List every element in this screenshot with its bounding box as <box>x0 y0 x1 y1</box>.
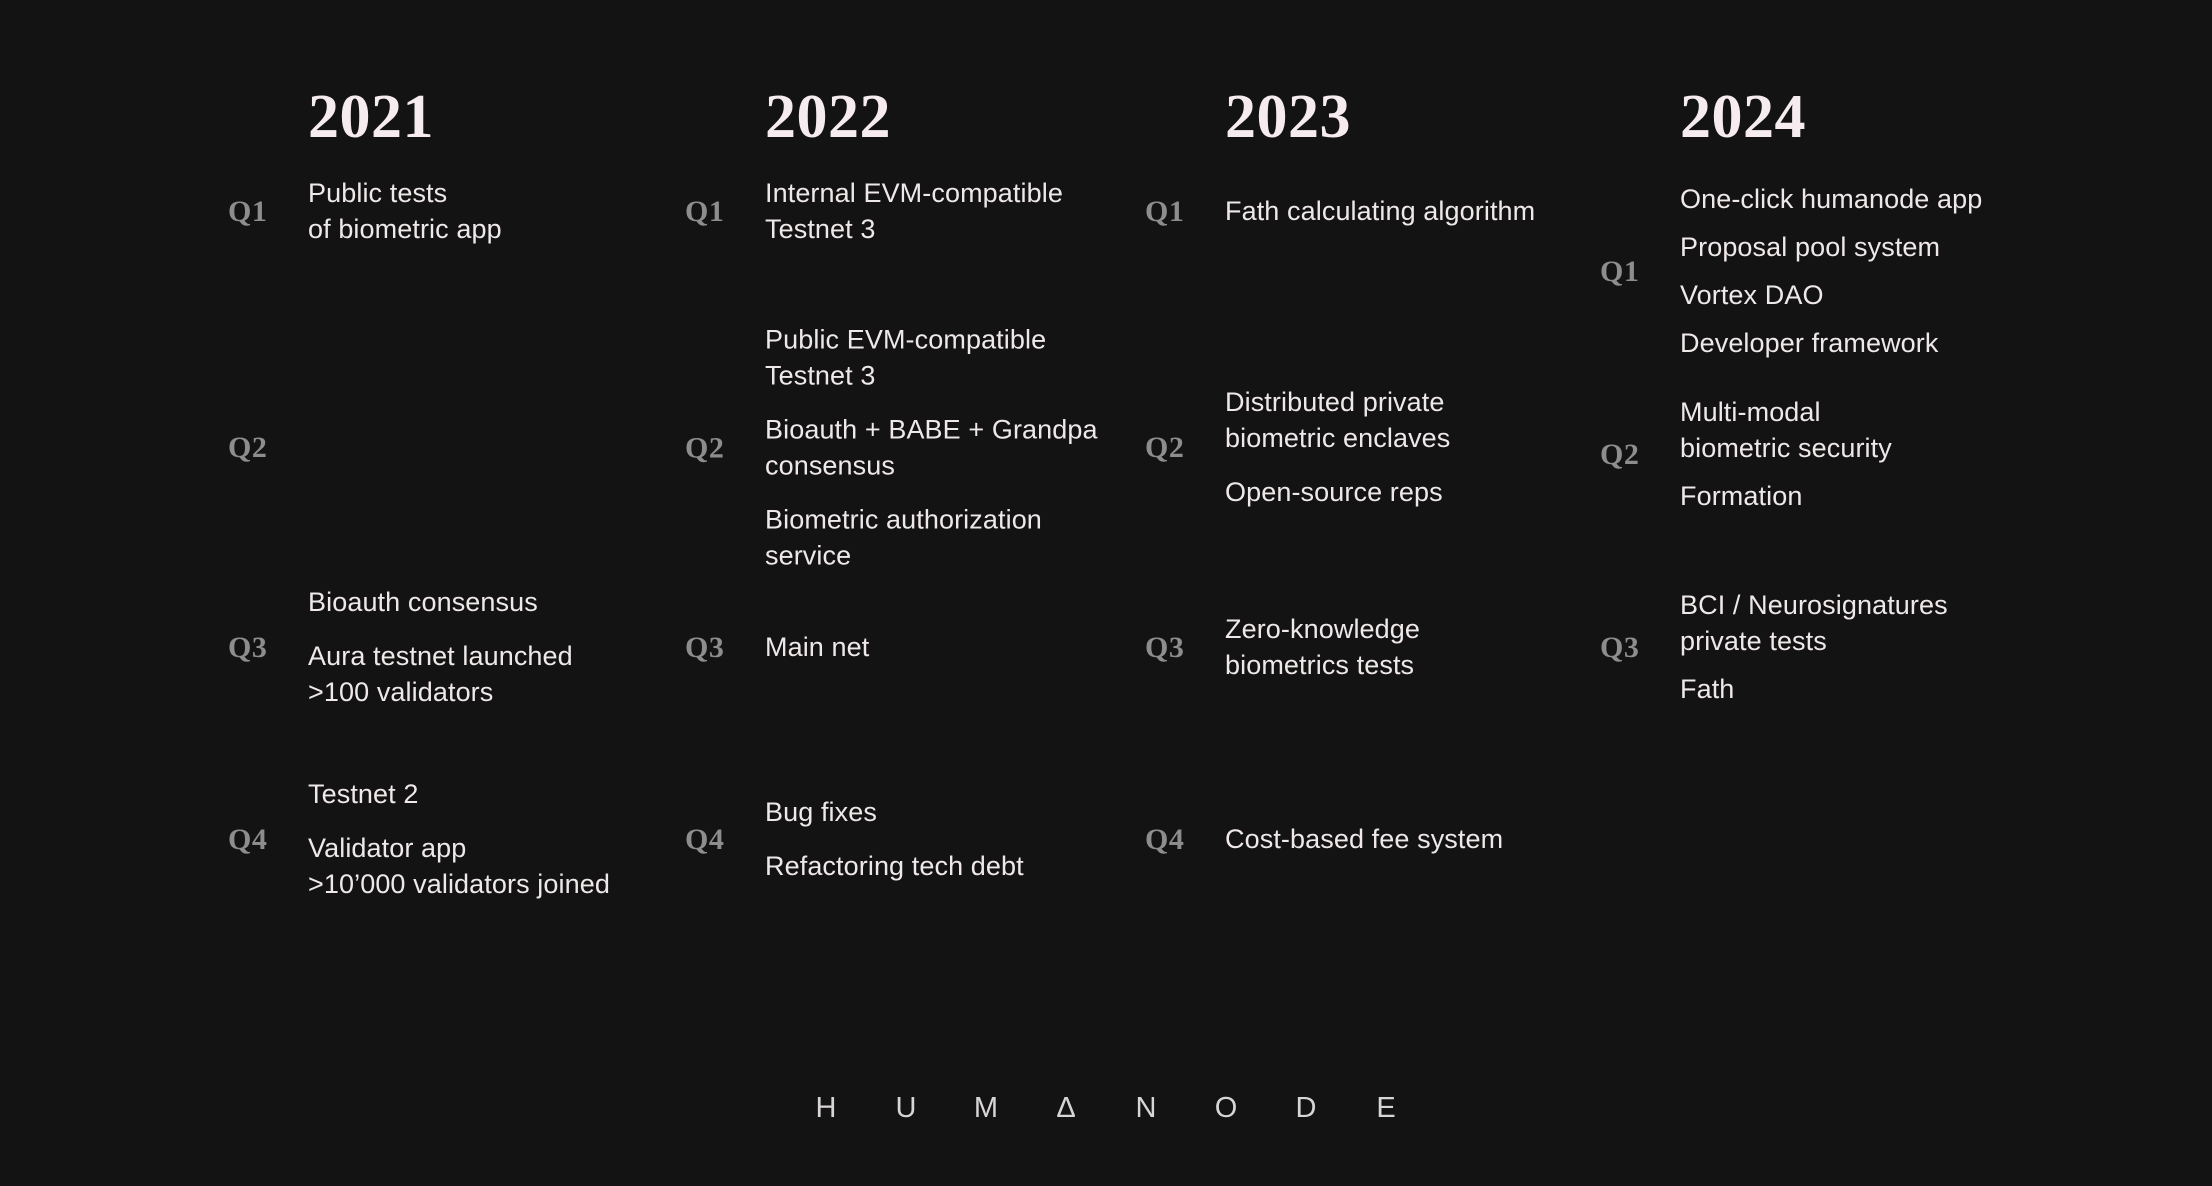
milestone-item: Bug fixes <box>765 795 1135 831</box>
year-column-2022: 2022Q1Internal EVM-compatible Testnet 3Q… <box>685 0 1135 1186</box>
milestone-item: Fath calculating algorithm <box>1225 194 1595 230</box>
milestone-list: Distributed private biometric enclavesOp… <box>1225 385 1595 511</box>
quarter-row-2024-Q3: Q3BCI / Neurosignatures private testsFat… <box>1600 588 2050 708</box>
milestone-item: Public tests of biometric app <box>308 176 678 248</box>
quarter-row-2021-Q2: Q2 <box>228 433 678 463</box>
milestone-item: Open-source reps <box>1225 475 1595 511</box>
milestone-item: Public EVM-compatible Testnet 3 <box>765 322 1135 394</box>
quarter-label: Q2 <box>1600 440 1680 470</box>
quarter-label: Q2 <box>1145 433 1225 463</box>
quarter-row-2023-Q1: Q1Fath calculating algorithm <box>1145 194 1595 230</box>
quarter-label: Q1 <box>228 197 308 227</box>
milestone-item: Bioauth + BABE + Grandpa consensus <box>765 412 1135 484</box>
milestone-item: Biometric authorization service <box>765 502 1135 574</box>
quarter-label: Q3 <box>685 633 765 663</box>
milestone-item: One-click humanode app <box>1680 182 2050 218</box>
quarter-row-2022-Q4: Q4Bug fixesRefactoring tech debt <box>685 795 1135 885</box>
quarter-row-2024-Q2: Q2Multi-modal biometric securityFormatio… <box>1600 395 2050 515</box>
quarter-label: Q1 <box>1600 257 1680 287</box>
quarter-row-2023-Q4: Q4Cost-based fee system <box>1145 822 1595 858</box>
quarter-row-2022-Q3: Q3Main net <box>685 630 1135 666</box>
milestone-list: One-click humanode appProposal pool syst… <box>1680 182 2050 362</box>
year-column-2024: 2024Q1One-click humanode appProposal poo… <box>1600 0 2050 1186</box>
quarter-row-2021-Q4: Q4Testnet 2Validator app >10’000 validat… <box>228 777 678 903</box>
milestone-item: Internal EVM-compatible Testnet 3 <box>765 176 1135 248</box>
milestone-list: Zero-knowledge biometrics tests <box>1225 612 1595 684</box>
wordmark-letter: N <box>1106 1094 1186 1123</box>
quarter-row-2022-Q2: Q2Public EVM-compatible Testnet 3Bioauth… <box>685 322 1135 573</box>
milestone-list: Cost-based fee system <box>1225 822 1595 858</box>
year-column-2021: 2021Q1Public tests of biometric appQ2Q3B… <box>228 0 678 1186</box>
quarter-label: Q3 <box>1600 633 1680 663</box>
milestone-list: Bug fixesRefactoring tech debt <box>765 795 1135 885</box>
milestone-list: Public EVM-compatible Testnet 3Bioauth +… <box>765 322 1135 573</box>
milestone-list: Internal EVM-compatible Testnet 3 <box>765 176 1135 248</box>
quarter-label: Q4 <box>228 825 308 855</box>
milestone-item: Multi-modal biometric security <box>1680 395 2050 467</box>
wordmark-letter: H <box>786 1094 866 1123</box>
milestone-item: Vortex DAO <box>1680 278 2050 314</box>
quarter-row-2023-Q2: Q2Distributed private biometric enclaves… <box>1145 385 1595 511</box>
milestone-list: Public tests of biometric app <box>308 176 678 248</box>
milestone-list: Multi-modal biometric securityFormation <box>1680 395 2050 515</box>
milestone-item: BCI / Neurosignatures private tests <box>1680 588 2050 660</box>
milestone-list: BCI / Neurosignatures private testsFath <box>1680 588 2050 708</box>
milestone-item: Testnet 2 <box>308 777 678 813</box>
quarter-label: Q2 <box>228 433 308 463</box>
wordmark-letter: U <box>866 1094 946 1123</box>
quarter-label: Q1 <box>685 197 765 227</box>
milestone-list: Main net <box>765 630 1135 666</box>
milestone-item: Proposal pool system <box>1680 230 2050 266</box>
year-heading: 2023 <box>1225 86 1351 148</box>
milestone-item: Distributed private biometric enclaves <box>1225 385 1595 457</box>
milestone-item: Aura testnet launched >100 validators <box>308 639 678 711</box>
year-heading: 2022 <box>765 86 891 148</box>
milestone-item: Formation <box>1680 479 2050 515</box>
quarter-row-2022-Q1: Q1Internal EVM-compatible Testnet 3 <box>685 176 1135 248</box>
quarter-label: Q3 <box>228 633 308 663</box>
milestone-item: Developer framework <box>1680 326 2050 362</box>
roadmap-timeline: 2021Q1Public tests of biometric appQ2Q3B… <box>0 0 2212 1186</box>
milestone-list: Testnet 2Validator app >10’000 validator… <box>308 777 678 903</box>
milestone-item: Zero-knowledge biometrics tests <box>1225 612 1595 684</box>
quarter-label: Q4 <box>1145 825 1225 855</box>
milestone-item: Fath <box>1680 672 2050 708</box>
milestone-list: Fath calculating algorithm <box>1225 194 1595 230</box>
milestone-item: Refactoring tech debt <box>765 849 1135 885</box>
milestone-item: Main net <box>765 630 1135 666</box>
milestone-item: Cost-based fee system <box>1225 822 1595 858</box>
wordmark-letter: M <box>946 1094 1026 1123</box>
quarter-label: Q4 <box>685 825 765 855</box>
wordmark-letter: O <box>1186 1094 1266 1123</box>
humanode-wordmark: HUMΔNODE <box>0 1094 2212 1123</box>
milestone-item: Bioauth consensus <box>308 585 678 621</box>
wordmark-letter: Δ <box>1026 1094 1106 1123</box>
milestone-item: Validator app >10’000 validators joined <box>308 831 678 903</box>
quarter-row-2021-Q1: Q1Public tests of biometric app <box>228 176 678 248</box>
year-column-2023: 2023Q1Fath calculating algorithmQ2Distri… <box>1145 0 1595 1186</box>
quarter-label: Q2 <box>685 433 765 463</box>
wordmark-letter: D <box>1266 1094 1346 1123</box>
year-heading: 2021 <box>308 86 434 148</box>
quarter-row-2021-Q3: Q3Bioauth consensusAura testnet launched… <box>228 585 678 711</box>
milestone-list: Bioauth consensusAura testnet launched >… <box>308 585 678 711</box>
quarter-row-2023-Q3: Q3Zero-knowledge biometrics tests <box>1145 612 1595 684</box>
quarter-row-2024-Q1: Q1One-click humanode appProposal pool sy… <box>1600 182 2050 362</box>
year-heading: 2024 <box>1680 86 1806 148</box>
quarter-label: Q3 <box>1145 633 1225 663</box>
wordmark-letter: E <box>1346 1094 1426 1123</box>
quarter-label: Q1 <box>1145 197 1225 227</box>
